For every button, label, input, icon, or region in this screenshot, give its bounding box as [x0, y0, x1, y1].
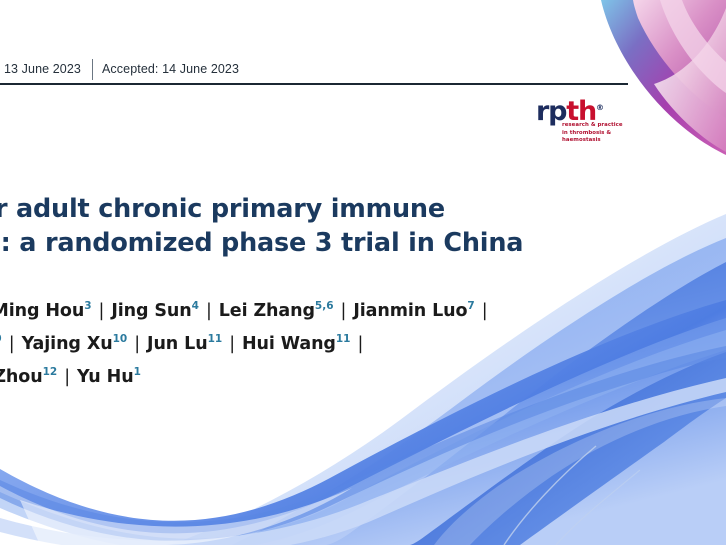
journal-logo-wordmark: rpth®	[536, 98, 603, 125]
author-name: Ming Hou	[0, 301, 84, 321]
author-affiliation-marker: 1	[134, 366, 141, 378]
header-rule	[0, 83, 628, 85]
article-dates-line: 13 June 2023 Accepted: 14 June 2023	[0, 62, 640, 80]
author-separator: |	[475, 301, 495, 321]
trademark-icon: ®	[596, 103, 603, 112]
article-title-line-2: enia: a randomized phase 3 trial in Chin…	[0, 226, 620, 260]
author-list: ou2|Ming Hou3|Jing Sun4|Lei Zhang5,6|Jia…	[0, 295, 640, 394]
author-name: Hui Wang	[242, 334, 336, 354]
author-name: chun Zhou	[0, 367, 43, 387]
author-separator: |	[199, 301, 219, 321]
author-separator: |	[127, 334, 147, 354]
author-affiliation-marker: 3	[84, 300, 91, 312]
author-name: Yu Hu	[77, 367, 134, 387]
accepted-date: Accepted: 14 June 2023	[102, 62, 239, 76]
author-line-1: ou2|Ming Hou3|Jing Sun4|Lei Zhang5,6|Jia…	[0, 295, 640, 328]
author-separator: |	[2, 334, 22, 354]
author-affiliation-marker: 7	[467, 300, 474, 312]
author-name: Jianmin Luo	[353, 301, 467, 321]
article-title: g for adult chronic primary immune enia:…	[0, 192, 620, 260]
article-title-line-1: g for adult chronic primary immune	[0, 192, 620, 226]
author-affiliation-marker: 11	[336, 333, 351, 345]
meta-divider	[92, 59, 93, 80]
journal-logo-tagline: research & practice in thrombosis & haem…	[562, 122, 638, 145]
halftone-dot-pattern	[436, 404, 726, 545]
author-affiliation-marker: 5,6	[315, 300, 334, 312]
received-date: 13 June 2023	[4, 62, 81, 76]
author-line-2: Xu Ye9|Yajing Xu10|Jun Lu11|Hui Wang11|	[0, 328, 640, 361]
author-line-3: chun Zhou12|Yu Hu1	[0, 361, 640, 394]
author-separator: |	[57, 367, 77, 387]
author-separator: |	[92, 301, 112, 321]
article-cover-page: 13 June 2023 Accepted: 14 June 2023 0215…	[0, 0, 726, 545]
decorative-artwork	[0, 0, 726, 545]
author-separator: |	[350, 334, 370, 354]
author-separator: |	[222, 334, 242, 354]
author-separator: |	[334, 301, 354, 321]
journal-logo: rpth® research & practice in thrombosis …	[536, 98, 632, 142]
journal-tagline-line-1: research & practice	[562, 122, 638, 130]
author-affiliation-marker: 11	[208, 333, 223, 345]
author-name: Jing Sun	[111, 301, 191, 321]
journal-tagline-line-2: in thrombosis & haemostasis	[562, 130, 638, 145]
author-affiliation-marker: 10	[113, 333, 128, 345]
author-affiliation-marker: 12	[43, 366, 58, 378]
author-name: Lei Zhang	[219, 301, 315, 321]
author-name: Jun Lu	[147, 334, 208, 354]
author-name: Yajing Xu	[22, 334, 113, 354]
author-affiliation-marker: 4	[192, 300, 199, 312]
